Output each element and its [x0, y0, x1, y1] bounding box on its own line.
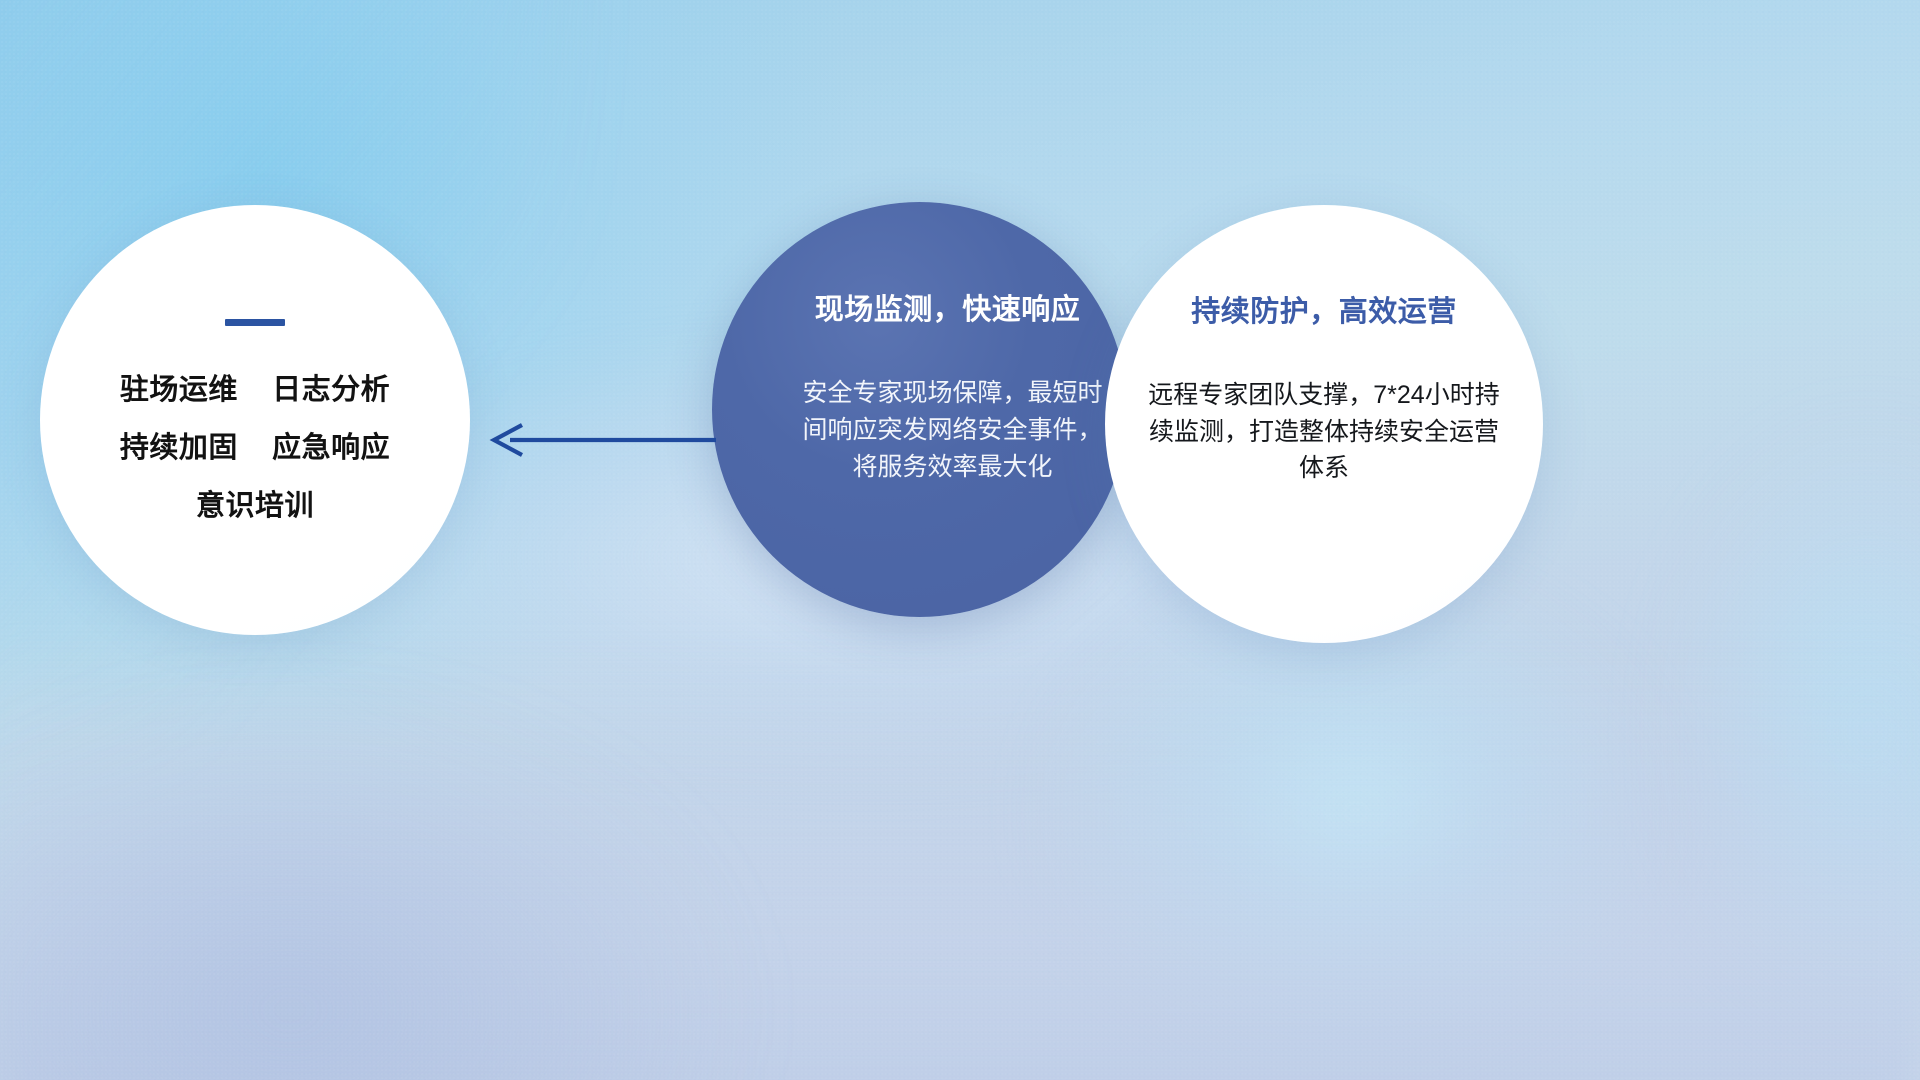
onsite-monitoring-title: 现场监测，快速响应: [815, 286, 1081, 328]
section-divider-icon: [225, 319, 285, 326]
capabilities-circle: 驻场运维 日志分析 持续加固 应急响应 意识培训: [40, 205, 470, 635]
continuous-protection-title: 持续防护，高效运营: [1191, 288, 1457, 330]
capability-line-2: 持续加固 应急响应: [120, 434, 390, 463]
flow-arrow-left-icon: [488, 418, 718, 462]
continuous-protection-circle: 持续防护，高效运营 远程专家团队支撑，7*24小时持续监测，打造整体持续安全运营…: [1105, 205, 1543, 643]
onsite-monitoring-circle: 现场监测，快速响应 安全专家现场保障，最短时间响应突发网络安全事件，将服务效率最…: [712, 202, 1127, 617]
capability-line-3: 意识培训: [196, 492, 314, 521]
capability-line-1: 驻场运维 日志分析: [120, 376, 390, 405]
continuous-protection-body: 远程专家团队支撑，7*24小时持续监测，打造整体持续安全运营体系: [1140, 377, 1508, 487]
onsite-monitoring-body: 安全专家现场保障，最短时间响应突发网络安全事件，将服务效率最大化: [798, 375, 1108, 485]
